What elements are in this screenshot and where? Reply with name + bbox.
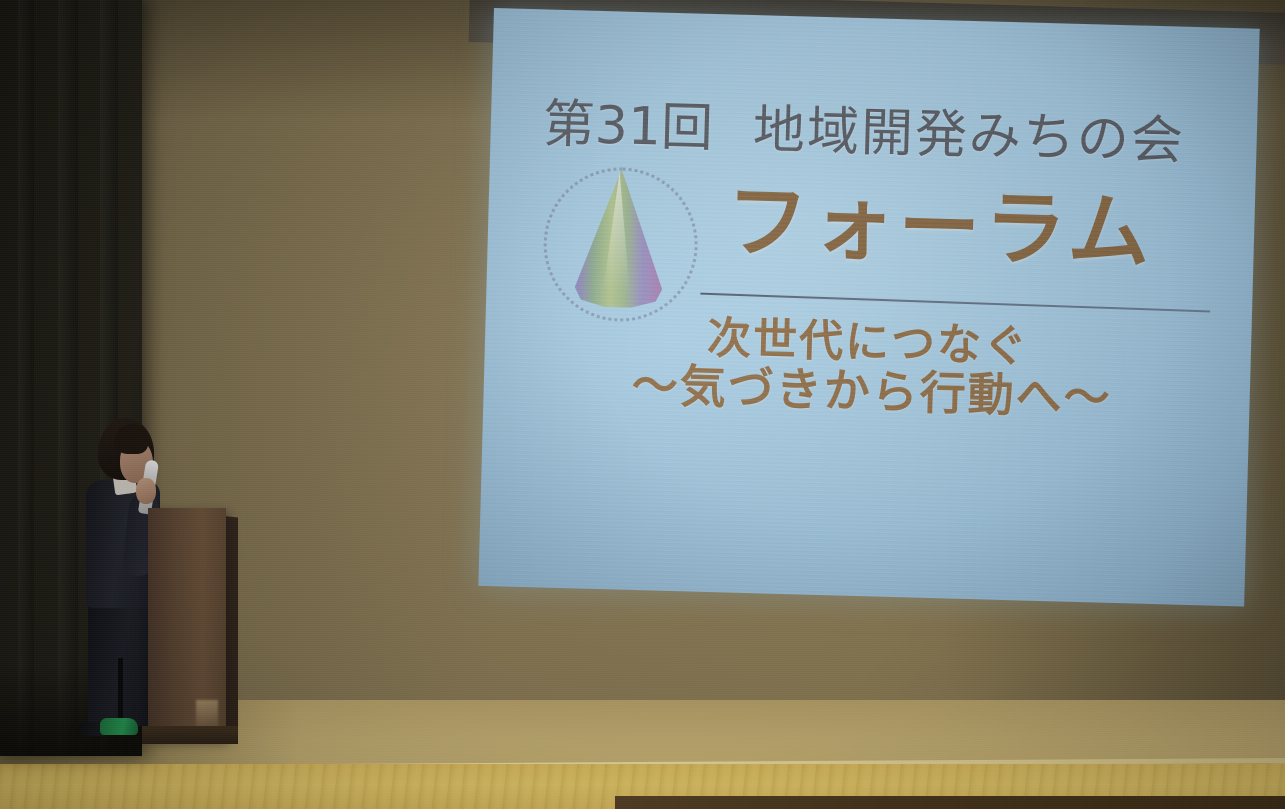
slide-edition: 第31回 — [542, 94, 714, 159]
stage-photo-scene: 第31回地域開発みちの会 フォーラム 次世代につなぐ 〜気づきから行動へ〜 — [0, 0, 1285, 809]
slide-event-name: フォーラム — [725, 154, 1156, 285]
projection-screen: 第31回地域開発みちの会 フォーラム 次世代につなぐ 〜気づきから行動へ〜 — [478, 8, 1259, 607]
presenter-shoe-front — [100, 718, 138, 735]
curtain-fold — [18, 0, 34, 756]
presenter-hand — [136, 478, 156, 504]
presenter-hair-front — [114, 424, 148, 454]
podium-base — [142, 726, 238, 744]
presenter-leg-gap — [118, 658, 123, 720]
slide-subtitle-line2: 〜気づきから行動へ〜 — [631, 349, 1113, 428]
podium-side-panel — [224, 516, 238, 737]
cone-rainbow-logo-icon — [534, 161, 706, 315]
stage-apron-dark-strip — [615, 796, 1285, 809]
